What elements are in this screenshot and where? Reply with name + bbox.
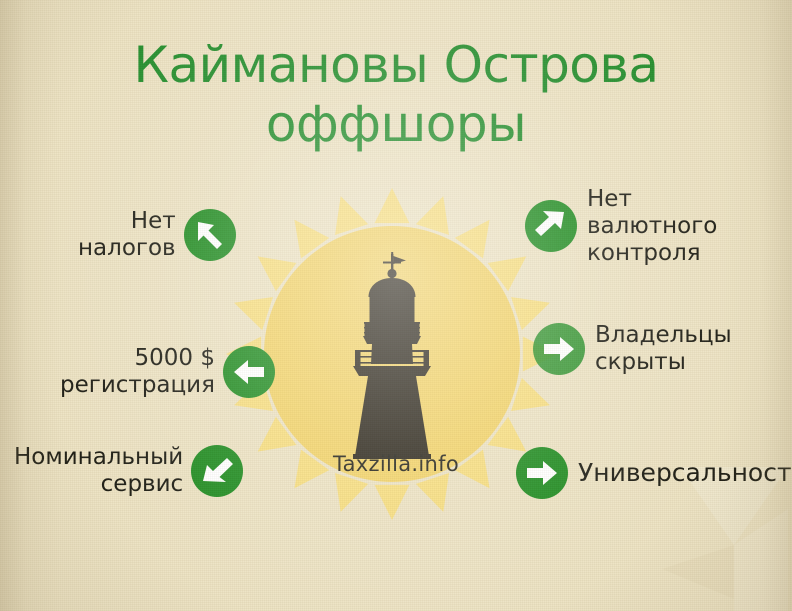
callout-label: Номинальный сервис — [14, 444, 183, 498]
callout-label: Универсальность — [578, 458, 792, 487]
lighthouse-graphic — [322, 252, 462, 460]
callout-owners-hidden[interactable]: Владельцы скрыты — [533, 322, 732, 376]
arrow-up-right-icon[interactable] — [525, 200, 577, 252]
callout-label: Нет валютного контроля — [587, 186, 717, 267]
callout-no-currency-control[interactable]: Нет валютного контроля — [525, 186, 717, 267]
arrow-right-icon[interactable] — [516, 447, 568, 499]
callout-label: 5000 $ регистрация — [60, 345, 215, 399]
callout-label: Нет налогов — [78, 208, 176, 262]
lighthouse-icon — [322, 252, 462, 460]
callout-no-taxes[interactable]: Нет налогов — [78, 208, 236, 262]
callout-universality[interactable]: Универсальность — [516, 447, 792, 499]
callout-nominee-service[interactable]: Номинальный сервис — [14, 444, 243, 498]
callout-registration-fee[interactable]: 5000 $ регистрация — [60, 345, 275, 399]
arrow-right-icon[interactable] — [533, 323, 585, 375]
title-line-1: Каймановы Острова — [133, 36, 658, 94]
page-title: Каймановы Острова оффшоры — [0, 36, 792, 154]
slide-canvas: Каймановы Острова оффшоры — [0, 0, 792, 611]
title-line-2: оффшоры — [0, 95, 792, 154]
arrow-left-icon[interactable] — [223, 346, 275, 398]
arrow-down-left-icon[interactable] — [191, 445, 243, 497]
arrow-up-left-icon[interactable] — [184, 209, 236, 261]
callout-label: Владельцы скрыты — [595, 322, 732, 376]
